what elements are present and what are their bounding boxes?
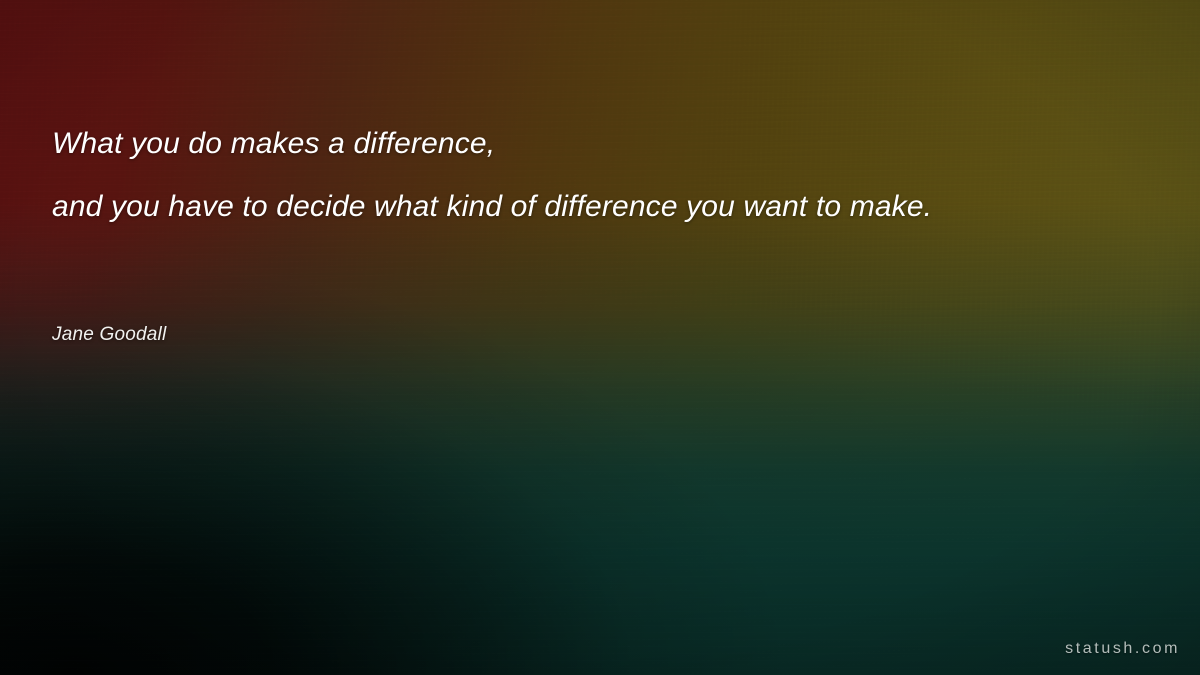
quote-card: What you do makes a difference, and you …: [0, 0, 1200, 675]
quote-content: What you do makes a difference, and you …: [0, 0, 1200, 675]
quote-body-text: What you do makes a difference, and you …: [52, 112, 1162, 238]
quote-author-name: Jane Goodall: [52, 322, 166, 348]
site-watermark: statush.com: [1065, 640, 1180, 658]
